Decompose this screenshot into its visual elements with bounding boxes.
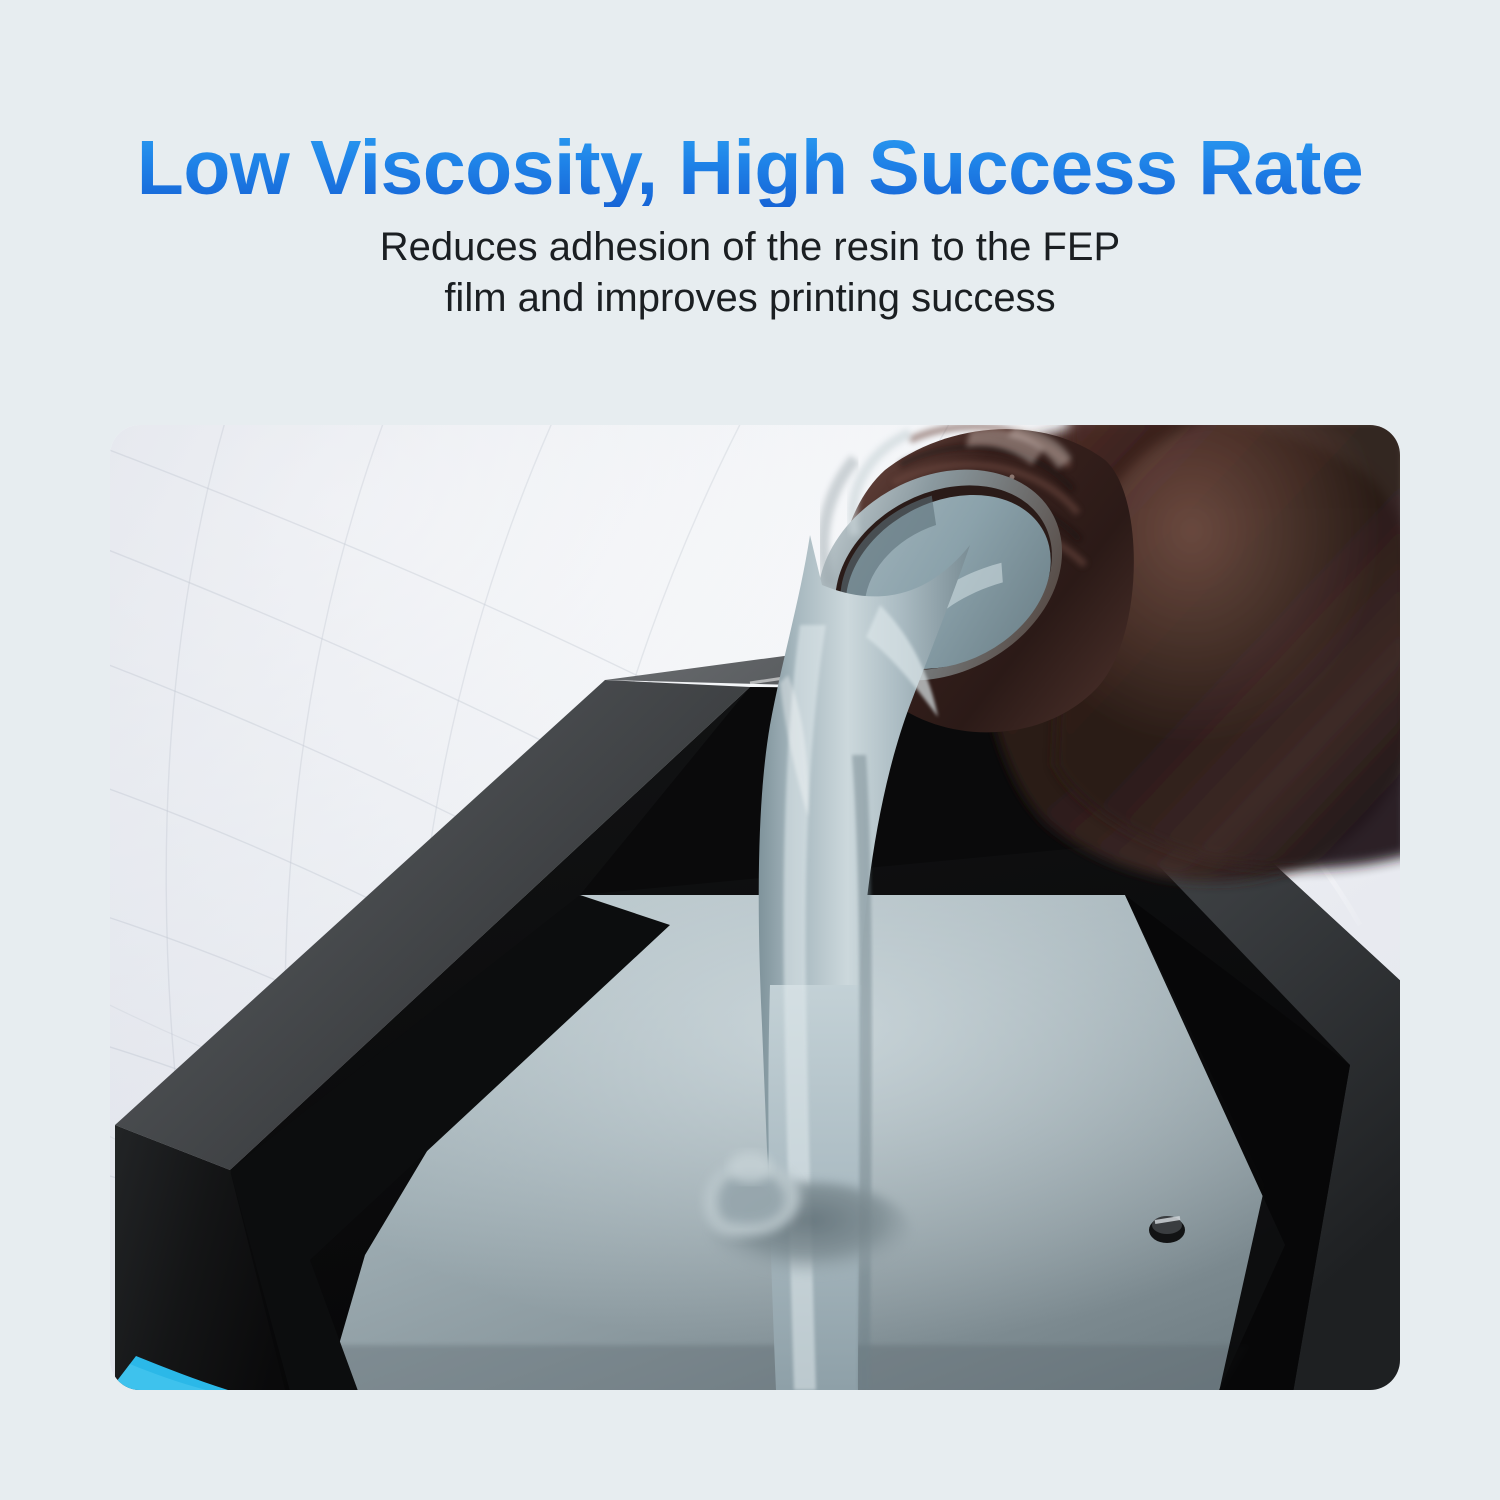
subtitle-line-2: film and improves printing success bbox=[250, 273, 1250, 324]
printer-base-accent bbox=[110, 1350, 300, 1390]
product-photo bbox=[110, 425, 1400, 1390]
marketing-text-block: Low Viscosity, High Success Rate Reduces… bbox=[0, 0, 1500, 400]
subtitle-line-1: Reduces adhesion of the resin to the FEP bbox=[380, 225, 1120, 269]
page-title: Low Viscosity, High Success Rate bbox=[0, 130, 1500, 207]
subtitle: Reduces adhesion of the resin to the FEP… bbox=[250, 222, 1250, 324]
resin-splash-dimple bbox=[110, 425, 1400, 1390]
